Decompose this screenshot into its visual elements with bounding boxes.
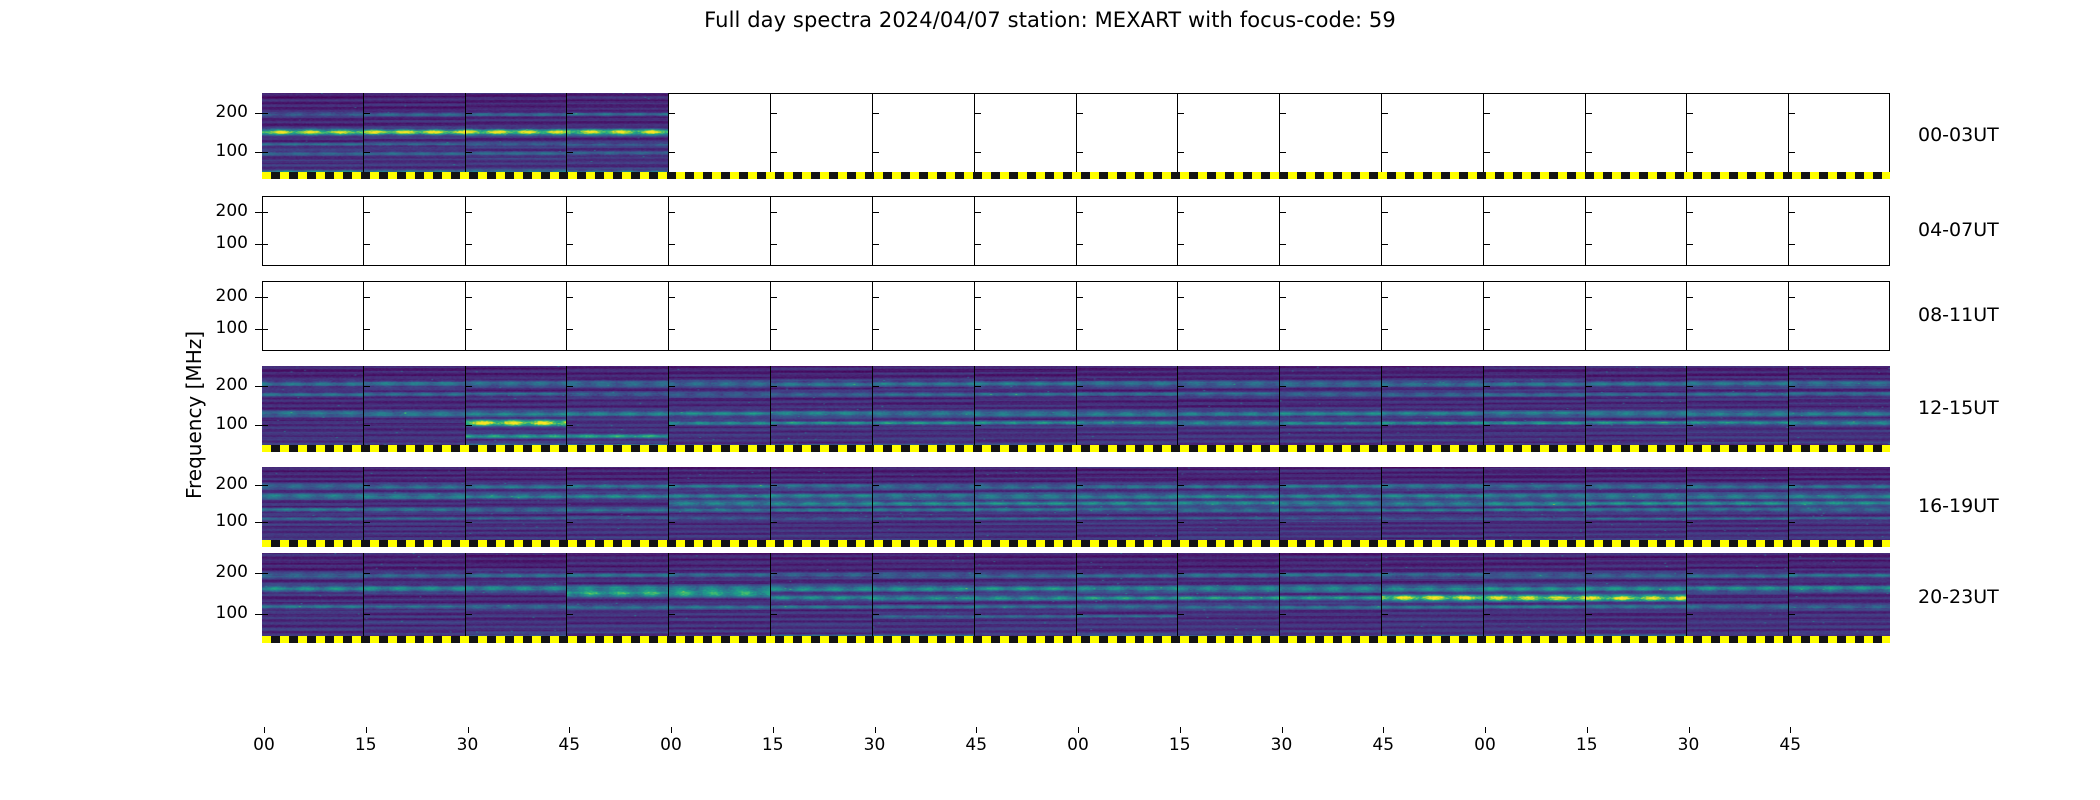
y-tick-mark <box>873 113 879 114</box>
spectrogram-cell[interactable] <box>669 93 771 179</box>
y-tick-mark <box>262 485 268 486</box>
y-axis-tick <box>255 329 262 330</box>
row-time-label: 08-11UT <box>1918 304 1999 326</box>
y-tick-mark <box>1077 386 1083 387</box>
y-tick-mark <box>1789 244 1795 245</box>
spectrogram-cell[interactable] <box>1280 467 1382 547</box>
spectrogram-cell[interactable] <box>1586 281 1688 351</box>
spectrogram-cell[interactable] <box>1687 93 1789 179</box>
spectrogram-cell[interactable] <box>567 366 669 452</box>
spectrogram-cell[interactable] <box>1484 366 1586 452</box>
y-tick-mark <box>1077 152 1083 153</box>
y-axis-tick-label: 100 <box>192 318 248 338</box>
y-tick-mark <box>771 113 777 114</box>
spectrogram-cell[interactable] <box>1178 467 1280 547</box>
y-tick-mark <box>364 152 370 153</box>
y-tick-mark <box>567 485 573 486</box>
y-tick-mark <box>1077 113 1083 114</box>
y-axis-tick <box>255 152 262 153</box>
spectrogram-cell[interactable] <box>771 281 873 351</box>
spectrogram-cell[interactable] <box>364 553 466 643</box>
y-tick-mark <box>1586 614 1592 615</box>
y-tick-mark <box>1484 386 1490 387</box>
spectrogram-cell[interactable] <box>1484 93 1586 179</box>
y-tick-mark <box>771 573 777 574</box>
y-tick-mark <box>1586 329 1592 330</box>
data-coverage-baseline <box>262 445 1890 452</box>
spectrogram-cell[interactable] <box>975 93 1077 179</box>
y-tick-mark <box>1178 573 1184 574</box>
y-tick-mark <box>1178 386 1184 387</box>
y-tick-mark <box>1178 152 1184 153</box>
y-tick-mark <box>975 113 981 114</box>
y-tick-mark <box>771 522 777 523</box>
row-cells <box>262 553 1890 643</box>
y-tick-mark <box>1687 297 1693 298</box>
y-tick-mark <box>1077 244 1083 245</box>
y-axis-tick-label: 100 <box>192 511 248 531</box>
y-tick-mark <box>1077 573 1083 574</box>
spectrogram-image <box>1789 553 1890 643</box>
y-tick-mark <box>1382 329 1388 330</box>
y-tick-mark <box>771 425 777 426</box>
spectrogram-image <box>1586 467 1687 547</box>
spectrogram-image <box>1586 553 1687 643</box>
spectrogram-image <box>1382 467 1483 547</box>
x-axis-tick-label: 15 <box>762 735 784 755</box>
row-cells <box>262 467 1890 547</box>
spectrogram-cell[interactable] <box>1586 553 1688 643</box>
y-tick-mark <box>567 573 573 574</box>
y-tick-mark <box>1789 573 1795 574</box>
y-tick-mark <box>466 152 472 153</box>
x-axis-tick-label: 45 <box>1779 735 1801 755</box>
spectrogram-cell[interactable] <box>669 196 771 266</box>
y-tick-mark <box>364 485 370 486</box>
y-tick-mark <box>567 152 573 153</box>
y-tick-mark <box>1280 244 1286 245</box>
spectrogram-cell[interactable] <box>262 281 364 351</box>
y-tick-mark <box>1687 113 1693 114</box>
y-tick-mark <box>1178 485 1184 486</box>
spectrogram-cell[interactable] <box>466 281 568 351</box>
spectrogram-cell[interactable] <box>1687 366 1789 452</box>
spectrogram-cell[interactable] <box>1077 281 1179 351</box>
y-tick-mark <box>669 113 675 114</box>
spectrogram-cell[interactable] <box>1077 366 1179 452</box>
row-cells <box>262 366 1890 452</box>
spectrogram-cell[interactable] <box>873 366 975 452</box>
spectrogram-cell[interactable] <box>262 366 364 452</box>
spectrogram-image <box>1484 366 1585 452</box>
y-tick-mark <box>567 386 573 387</box>
spectrogram-cell[interactable] <box>1077 553 1179 643</box>
x-axis-tick-label: 45 <box>558 735 580 755</box>
y-tick-mark <box>873 485 879 486</box>
y-tick-mark <box>669 152 675 153</box>
spectrogram-cell[interactable] <box>1484 281 1586 351</box>
y-tick-mark <box>669 386 675 387</box>
y-tick-mark <box>1178 522 1184 523</box>
row-time-label: 12-15UT <box>1918 397 1999 419</box>
y-tick-mark <box>873 244 879 245</box>
y-tick-mark <box>262 386 268 387</box>
y-tick-mark <box>262 244 268 245</box>
y-tick-mark <box>669 522 675 523</box>
y-tick-mark <box>1789 522 1795 523</box>
spectrogram-cell[interactable] <box>1484 196 1586 266</box>
spectrogram-cell[interactable] <box>1382 93 1484 179</box>
spectrogram-image <box>873 467 974 547</box>
x-axis-tick <box>1587 727 1588 733</box>
spectrogram-cell[interactable] <box>364 366 466 452</box>
y-tick-mark <box>262 113 268 114</box>
y-tick-mark <box>1077 425 1083 426</box>
y-tick-mark <box>466 329 472 330</box>
y-tick-mark <box>1586 244 1592 245</box>
spectrogram-image <box>262 467 363 547</box>
y-tick-mark <box>771 297 777 298</box>
y-tick-mark <box>262 212 268 213</box>
row-time-label: 20-23UT <box>1918 586 1999 608</box>
spectrogram-cell[interactable] <box>1586 93 1688 179</box>
y-tick-mark <box>1280 573 1286 574</box>
spectrogram-image <box>669 553 770 643</box>
figure-canvas: Full day spectra 2024/04/07 station: MEX… <box>0 0 2100 800</box>
y-axis-tick-label: 100 <box>192 141 248 161</box>
spectrogram-cell[interactable] <box>364 196 466 266</box>
y-tick-mark <box>669 485 675 486</box>
spectrogram-cell[interactable] <box>262 553 364 643</box>
spectrogram-cell[interactable] <box>1077 93 1179 179</box>
spectrogram-row[interactable] <box>262 281 1890 351</box>
spectrogram-cell[interactable] <box>1280 93 1382 179</box>
y-axis-tick <box>255 522 262 523</box>
y-tick-mark <box>466 573 472 574</box>
y-tick-mark <box>975 485 981 486</box>
x-axis-tick <box>1689 727 1690 733</box>
spectrogram-cell[interactable] <box>1484 467 1586 547</box>
spectrogram-cell[interactable] <box>1178 366 1280 452</box>
spectrogram-cell[interactable] <box>1382 553 1484 643</box>
y-tick-mark <box>1484 329 1490 330</box>
spectrogram-row[interactable] <box>262 93 1890 179</box>
spectrogram-cell[interactable] <box>466 366 568 452</box>
spectrogram-cell[interactable] <box>873 93 975 179</box>
spectrogram-cell[interactable] <box>1687 467 1789 547</box>
x-axis-tick <box>1485 727 1486 733</box>
y-axis-tick <box>255 113 262 114</box>
y-tick-mark <box>1484 614 1490 615</box>
y-tick-mark <box>975 212 981 213</box>
y-tick-mark <box>364 244 370 245</box>
spectrogram-cell[interactable] <box>1382 467 1484 547</box>
spectrogram-image <box>1178 467 1279 547</box>
y-tick-mark <box>1586 386 1592 387</box>
y-tick-mark <box>1789 212 1795 213</box>
y-tick-mark <box>364 297 370 298</box>
spectrogram-cell[interactable] <box>1382 196 1484 266</box>
y-tick-mark <box>669 297 675 298</box>
y-tick-mark <box>1280 329 1286 330</box>
spectrogram-cell[interactable] <box>1687 553 1789 643</box>
y-tick-mark <box>1382 614 1388 615</box>
x-axis-tick-label: 15 <box>1576 735 1598 755</box>
spectrogram-cell[interactable] <box>975 196 1077 266</box>
y-tick-mark <box>873 152 879 153</box>
spectrogram-cell[interactable] <box>466 467 568 547</box>
y-tick-mark <box>1789 152 1795 153</box>
spectrogram-cell[interactable] <box>567 281 669 351</box>
spectrogram-image <box>1280 467 1381 547</box>
spectrogram-cell[interactable] <box>975 281 1077 351</box>
spectrogram-cell[interactable] <box>1586 467 1688 547</box>
spectrogram-cell[interactable] <box>1586 196 1688 266</box>
y-tick-mark <box>466 614 472 615</box>
spectrogram-image <box>771 366 872 452</box>
spectrogram-cell[interactable] <box>1484 553 1586 643</box>
spectrogram-cell[interactable] <box>364 93 466 179</box>
y-tick-mark <box>466 522 472 523</box>
y-axis-tick-label: 200 <box>192 474 248 494</box>
x-axis-tick <box>875 727 876 733</box>
spectrogram-cell[interactable] <box>466 93 568 179</box>
row-time-label: 04-07UT <box>1918 219 1999 241</box>
spectrogram-cell[interactable] <box>1687 196 1789 266</box>
y-tick-mark <box>1484 522 1490 523</box>
spectrogram-image <box>364 553 465 643</box>
y-tick-mark <box>1687 485 1693 486</box>
y-tick-mark <box>466 113 472 114</box>
spectrogram-image <box>975 467 1076 547</box>
x-axis-tick <box>366 727 367 733</box>
y-tick-mark <box>1687 386 1693 387</box>
spectrogram-cell[interactable] <box>975 467 1077 547</box>
x-axis-tick-label: 45 <box>1372 735 1394 755</box>
spectrogram-cell[interactable] <box>1382 366 1484 452</box>
x-axis: 00153045001530450015304500153045 <box>262 733 1890 773</box>
y-axis-tick <box>255 297 262 298</box>
spectrogram-cell[interactable] <box>466 553 568 643</box>
spectrogram-cell[interactable] <box>1789 553 1890 643</box>
spectrogram-cell[interactable] <box>1178 553 1280 643</box>
y-tick-mark <box>873 425 879 426</box>
y-tick-mark <box>975 522 981 523</box>
spectrogram-image <box>466 366 567 452</box>
y-tick-mark <box>873 573 879 574</box>
y-tick-mark <box>1077 297 1083 298</box>
y-tick-mark <box>1586 297 1592 298</box>
spectrogram-row[interactable] <box>262 196 1890 266</box>
y-tick-mark <box>1789 425 1795 426</box>
spectrogram-cell[interactable] <box>1178 196 1280 266</box>
spectrogram-image <box>1687 553 1788 643</box>
y-tick-mark <box>771 212 777 213</box>
x-axis-tick <box>773 727 774 733</box>
y-tick-mark <box>262 425 268 426</box>
spectrogram-cell[interactable] <box>1789 366 1890 452</box>
y-tick-mark <box>1484 485 1490 486</box>
y-tick-mark <box>262 297 268 298</box>
spectrogram-row[interactable] <box>262 553 1890 643</box>
spectrogram-cell[interactable] <box>1586 366 1688 452</box>
y-tick-mark <box>1789 329 1795 330</box>
spectrogram-image <box>1484 467 1585 547</box>
y-tick-mark <box>1586 425 1592 426</box>
y-tick-mark <box>975 425 981 426</box>
y-tick-mark <box>771 386 777 387</box>
spectrogram-image <box>364 93 465 179</box>
spectrogram-cell[interactable] <box>1789 467 1890 547</box>
spectrogram-cell[interactable] <box>669 366 771 452</box>
spectrogram-image <box>262 366 363 452</box>
y-axis-tick-label: 100 <box>192 414 248 434</box>
y-tick-mark <box>975 297 981 298</box>
spectrogram-image <box>567 553 668 643</box>
spectrogram-cell[interactable] <box>669 467 771 547</box>
spectrogram-cell[interactable] <box>262 196 364 266</box>
spectrogram-cell[interactable] <box>1280 366 1382 452</box>
spectrogram-image <box>364 366 465 452</box>
y-tick-mark <box>1484 425 1490 426</box>
y-tick-mark <box>1789 297 1795 298</box>
spectrogram-cell[interactable] <box>1382 281 1484 351</box>
spectrogram-cell[interactable] <box>262 93 364 179</box>
y-tick-mark <box>1484 212 1490 213</box>
y-tick-mark <box>771 244 777 245</box>
row-cells <box>262 93 1890 179</box>
y-tick-mark <box>1077 522 1083 523</box>
spectrogram-image <box>1687 467 1788 547</box>
x-axis-tick-label: 30 <box>457 735 479 755</box>
spectrogram-cell[interactable] <box>567 196 669 266</box>
y-tick-mark <box>975 614 981 615</box>
y-tick-mark <box>567 425 573 426</box>
spectrogram-image <box>466 93 567 179</box>
spectrogram-cell[interactable] <box>771 366 873 452</box>
spectrogram-image <box>873 366 974 452</box>
spectrogram-cell[interactable] <box>1687 281 1789 351</box>
spectrogram-image <box>262 553 363 643</box>
spectrogram-cell[interactable] <box>1077 467 1179 547</box>
spectrogram-cell[interactable] <box>1280 196 1382 266</box>
y-tick-mark <box>771 614 777 615</box>
y-tick-mark <box>1382 425 1388 426</box>
spectrogram-cell[interactable] <box>1077 196 1179 266</box>
y-tick-mark <box>1178 244 1184 245</box>
spectrogram-image <box>1077 366 1178 452</box>
spectrogram-image <box>567 467 668 547</box>
spectrogram-image <box>466 553 567 643</box>
y-tick-mark <box>873 522 879 523</box>
y-tick-mark <box>567 297 573 298</box>
y-tick-mark <box>1077 485 1083 486</box>
spectrogram-cell[interactable] <box>364 281 466 351</box>
spectrogram-cell[interactable] <box>1789 196 1890 266</box>
y-tick-mark <box>1280 425 1286 426</box>
y-tick-mark <box>1484 297 1490 298</box>
x-axis-tick <box>671 727 672 733</box>
spectrogram-cell[interactable] <box>873 467 975 547</box>
spectrogram-cell[interactable] <box>873 196 975 266</box>
x-axis-tick <box>569 727 570 733</box>
y-tick-mark <box>466 297 472 298</box>
y-tick-mark <box>669 244 675 245</box>
spectrogram-cell[interactable] <box>873 281 975 351</box>
y-tick-mark <box>771 485 777 486</box>
spectrogram-cell[interactable] <box>466 196 568 266</box>
spectrogram-cell[interactable] <box>771 196 873 266</box>
spectrogram-cell[interactable] <box>771 93 873 179</box>
y-tick-mark <box>1484 244 1490 245</box>
y-tick-mark <box>364 212 370 213</box>
y-axis-tick-label: 200 <box>192 201 248 221</box>
spectrogram-cell[interactable] <box>1178 93 1280 179</box>
y-tick-mark <box>1687 522 1693 523</box>
spectrogram-cell[interactable] <box>975 553 1077 643</box>
spectrogram-cell[interactable] <box>1789 93 1890 179</box>
spectrogram-cell[interactable] <box>567 553 669 643</box>
x-axis-tick-label: 15 <box>1169 735 1191 755</box>
y-tick-mark <box>669 425 675 426</box>
spectrogram-image <box>771 467 872 547</box>
spectrogram-image <box>1687 366 1788 452</box>
spectrogram-cell[interactable] <box>364 467 466 547</box>
y-axis-tick <box>255 485 262 486</box>
spectrogram-image <box>873 553 974 643</box>
x-axis-tick-label: 30 <box>1678 735 1700 755</box>
y-tick-mark <box>873 212 879 213</box>
spectrogram-image <box>771 553 872 643</box>
spectrogram-image <box>567 93 668 179</box>
spectrogram-cell[interactable] <box>567 93 669 179</box>
y-tick-mark <box>466 212 472 213</box>
figure-title: Full day spectra 2024/04/07 station: MEX… <box>0 8 2100 32</box>
spectrogram-cell[interactable] <box>1789 281 1890 351</box>
y-tick-mark <box>262 573 268 574</box>
x-axis-tick-label: 15 <box>355 735 377 755</box>
y-tick-mark <box>1586 522 1592 523</box>
spectrogram-cell[interactable] <box>1178 281 1280 351</box>
y-tick-mark <box>466 485 472 486</box>
spectrogram-cell[interactable] <box>975 366 1077 452</box>
spectrogram-cell[interactable] <box>262 467 364 547</box>
spectrogram-cell[interactable] <box>1280 553 1382 643</box>
y-tick-mark <box>1382 522 1388 523</box>
y-tick-mark <box>1687 329 1693 330</box>
spectrogram-cell[interactable] <box>771 553 873 643</box>
spectrogram-row[interactable] <box>262 366 1890 452</box>
spectrogram-cell[interactable] <box>771 467 873 547</box>
spectrogram-row[interactable] <box>262 467 1890 547</box>
y-tick-mark <box>466 244 472 245</box>
x-axis-tick <box>1180 727 1181 733</box>
spectrogram-cell[interactable] <box>567 467 669 547</box>
spectrogram-image <box>1077 467 1178 547</box>
y-tick-mark <box>567 113 573 114</box>
row-time-label: 16-19UT <box>1918 495 1999 517</box>
y-tick-mark <box>1484 152 1490 153</box>
y-axis-tick <box>255 386 262 387</box>
spectrogram-cell[interactable] <box>1280 281 1382 351</box>
spectrogram-cell[interactable] <box>873 553 975 643</box>
spectrogram-cell[interactable] <box>669 553 771 643</box>
y-axis-tick-label: 200 <box>192 102 248 122</box>
spectrogram-cell[interactable] <box>669 281 771 351</box>
y-tick-mark <box>1586 152 1592 153</box>
y-axis-tick-label: 200 <box>192 286 248 306</box>
y-tick-mark <box>873 329 879 330</box>
